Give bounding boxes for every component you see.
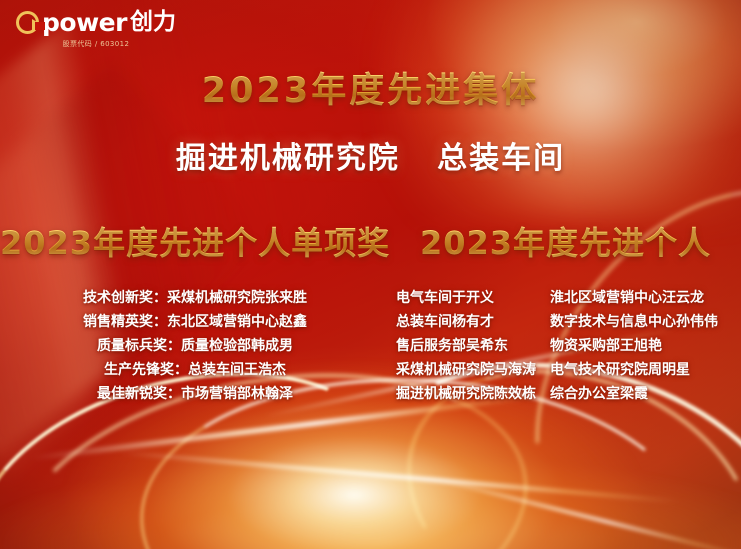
- list-item: 最佳新锐奖：市场营销部林翰泽: [97, 382, 293, 406]
- recipient-name: 电气技术研究院周明星: [550, 358, 735, 382]
- company-logo: power 创力 股票代码 / 603012: [16, 10, 176, 49]
- table-row: 售后服务部吴希东 物资采购部王旭艳: [390, 334, 741, 358]
- logo-wordmark-row: power 创力: [16, 10, 176, 35]
- light-streak-2: [121, 451, 679, 504]
- recipient-name: 淮北区域营销中心汪云龙: [550, 286, 735, 310]
- list-item: 质量标兵奖：质量检验部韩成男: [97, 334, 293, 358]
- section-heading-individual-special: 2023年度先进个人单项奖: [0, 218, 390, 264]
- special-award-list: 技术创新奖：采煤机械研究院张来胜 销售精英奖：东北区域营销中心赵鑫 质量标兵奖：…: [0, 286, 390, 406]
- table-row: 电气车间于开义 淮北区域营销中心汪云龙: [390, 286, 741, 310]
- list-item: 销售精英奖：东北区域营销中心赵鑫: [83, 310, 307, 334]
- list-item: 技术创新奖：采煤机械研究院张来胜: [83, 286, 307, 310]
- logo-name-cn: 创力: [130, 11, 176, 34]
- page-subtitle: 掘进机械研究院 总装车间: [0, 133, 741, 177]
- light-streak-4: [425, 475, 741, 549]
- table-row: 采煤机械研究院马海涛 电气技术研究院周明星: [390, 358, 741, 382]
- recipient-name: 掘进机械研究院陈效栋: [390, 382, 550, 406]
- table-row: 总装车间杨有才 数字技术与信息中心孙伟伟: [390, 310, 741, 334]
- left-ribbon-fold-secondary: [0, 60, 274, 479]
- logo-name-en: power: [42, 10, 127, 35]
- power-logo-icon: [16, 11, 39, 34]
- recipient-name: 总装车间杨有才: [390, 310, 550, 334]
- recipient-name: 采煤机械研究院马海涛: [390, 358, 550, 382]
- individual-award-list: 电气车间于开义 淮北区域营销中心汪云龙 总装车间杨有才 数字技术与信息中心孙伟伟…: [390, 286, 741, 406]
- recipient-name: 电气车间于开义: [390, 286, 550, 310]
- award-columns: 技术创新奖：采煤机械研究院张来胜 销售精英奖：东北区域营销中心赵鑫 质量标兵奖：…: [0, 286, 741, 406]
- recipient-name: 综合办公室梁霞: [550, 382, 735, 406]
- recipient-name: 物资采购部王旭艳: [550, 334, 735, 358]
- award-poster: power 创力 股票代码 / 603012 2023年度先进集体 掘进机械研究…: [0, 0, 741, 549]
- list-item: 生产先锋奖：总装车间王浩杰: [104, 358, 286, 382]
- recipient-name: 数字技术与信息中心孙伟伟: [550, 310, 735, 334]
- recipient-name: 售后服务部吴希东: [390, 334, 550, 358]
- stock-code-label: 股票代码 / 603012: [63, 39, 130, 49]
- section-headings: 2023年度先进个人单项奖 2023年度先进个人: [0, 218, 741, 264]
- table-row: 掘进机械研究院陈效栋 综合办公室梁霞: [390, 382, 741, 406]
- page-title: 2023年度先进集体: [0, 62, 741, 113]
- section-heading-individual: 2023年度先进个人: [390, 218, 741, 264]
